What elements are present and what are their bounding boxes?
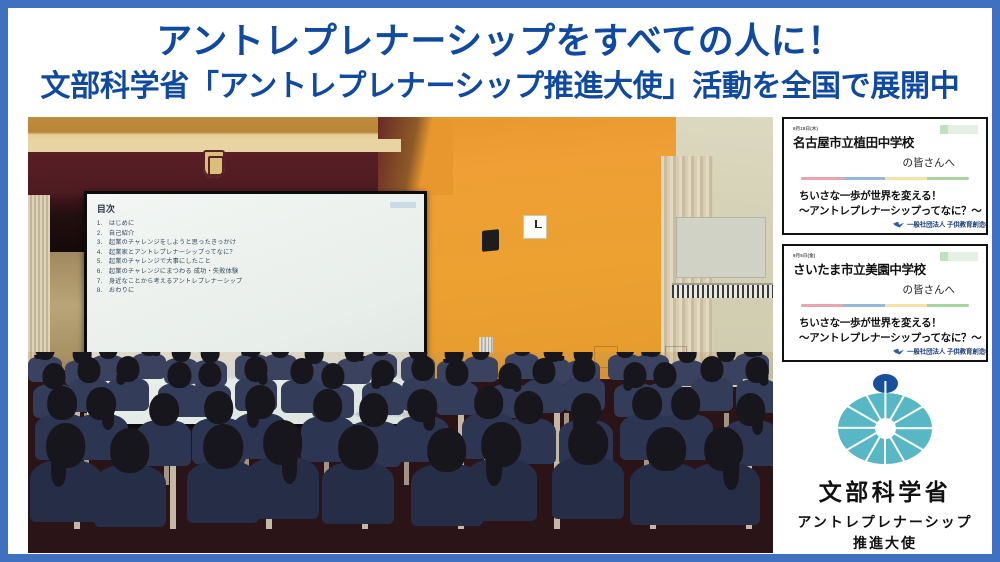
wall-speaker-icon <box>482 229 499 252</box>
student-head <box>371 352 390 356</box>
card-school-name: さいたま市立美園中学校 <box>793 259 977 278</box>
slide-item: 1. はじめに <box>97 219 414 229</box>
student-ponytail <box>755 352 762 355</box>
student-head <box>172 352 191 362</box>
student-ponytail <box>752 417 764 435</box>
student-head <box>427 428 467 472</box>
card-greeting: の皆さんへ <box>793 282 977 297</box>
student-head <box>513 352 532 356</box>
audience-area <box>28 352 773 553</box>
slide-title: 目次 <box>97 202 414 215</box>
card-color-rule <box>801 177 969 180</box>
student-head <box>700 356 723 382</box>
student-ponytail <box>116 375 125 385</box>
rule-segment-green <box>927 177 969 180</box>
page-title: アントレプレナーシップをすべての人に！ 文部科学省「アントレプレナーシップ推進大… <box>8 8 992 112</box>
slide-item: 6. 起業のチャレンジにまつわる 成功・失敗体験 <box>97 267 414 277</box>
school-card[interactable]: 9月5日(金) さいたま市立美園中学校 の皆さんへ ちいさな一歩が世界を変える！… <box>782 244 988 362</box>
logo-wheel-icon <box>838 393 932 464</box>
student-silhouette <box>552 457 624 519</box>
student-head <box>110 428 150 472</box>
student-ponytail <box>487 455 503 486</box>
student-head <box>321 363 344 389</box>
card-footer-text: 一般社団法人 子供教育創造機構 <box>907 220 988 229</box>
headline-line-1: アントレプレナーシップをすべての人に！ <box>8 8 992 66</box>
student-head <box>678 352 697 363</box>
slide-item: 3. 起業のチャレンジをしようと思ったきっかけ <box>97 238 414 248</box>
rule-segment-yellow <box>885 177 927 180</box>
student-silhouette <box>30 460 102 522</box>
student-head <box>313 389 343 422</box>
student-head <box>43 363 66 389</box>
student-head <box>291 358 314 384</box>
student-head <box>199 362 222 388</box>
card-date-kicker: 9月18日(木) <box>793 126 988 132</box>
student-head <box>471 352 490 359</box>
gym-wall-taper <box>378 117 453 195</box>
student-head <box>616 352 635 357</box>
rule-segment-green <box>927 304 969 307</box>
card-body-line-1: ちいさな一歩が世界を変える！ <box>793 189 977 204</box>
rule-segment-blue <box>843 177 885 180</box>
student-silhouette <box>465 459 537 521</box>
student-head <box>204 424 244 468</box>
logo-spoke-icon <box>884 381 886 428</box>
organization-mark-icon <box>893 222 904 228</box>
wall-vent-icon <box>479 337 493 353</box>
student-ponytail <box>372 379 381 389</box>
student-head <box>532 358 555 384</box>
student-silhouette <box>464 356 498 382</box>
student-head <box>572 356 595 382</box>
card-body-line-1: ちいさな一歩が世界を変える！ <box>793 316 977 331</box>
student-silhouette <box>688 463 760 525</box>
student-silhouette <box>94 465 166 527</box>
balcony-structure <box>676 217 765 278</box>
student-head <box>271 352 290 357</box>
rule-segment-blue <box>843 304 885 307</box>
student-ponytail <box>759 376 768 386</box>
card-date-kicker: 9月5日(金) <box>793 253 988 259</box>
student-ponytail <box>723 459 739 490</box>
slide-item: 2. 自己紹介 <box>97 229 414 239</box>
slide-item: 4. 起業家とアントレプレナーシップってなに？ <box>97 248 414 258</box>
student-head <box>99 352 118 359</box>
student-head <box>338 425 378 469</box>
student-ponytail <box>623 381 632 391</box>
balcony-railing <box>672 283 773 298</box>
student-head <box>568 421 608 465</box>
student-head <box>412 355 435 381</box>
wall-clock-icon <box>523 215 547 239</box>
card-body-line-2: 〜アントレプレナーシップってなに？〜 <box>793 204 977 219</box>
student-ponytail <box>152 352 159 355</box>
sidebar: 9月18日(木) 名古屋市立植田中学校 の皆さんへ ちいさな一歩が世界を変える！… <box>782 117 992 553</box>
student-ponytail <box>51 456 67 487</box>
photo-scene: 目次 1. はじめに 2. 自己紹介 3. 起業のチャレンジをしようと思ったきっ… <box>28 117 773 553</box>
card-greeting: の皆さんへ <box>793 155 977 170</box>
organization-mark-icon <box>893 349 904 355</box>
school-crest-icon <box>203 150 225 178</box>
student-ponytail <box>641 352 648 356</box>
card-footer-text: 一般社団法人 子供教育創造機構 <box>907 347 988 356</box>
card-footer: 一般社団法人 子供教育創造機構 <box>893 221 977 228</box>
stage-curtain-left <box>28 195 50 369</box>
mext-ambassador-logo: 文部科学省 アントレプレナーシップ 推進大使 <box>782 367 988 553</box>
banner-root: アントレプレナーシップをすべての人に！ 文部科学省「アントレプレナーシップ推進大… <box>0 0 1000 562</box>
student-head <box>632 387 662 420</box>
student-head <box>78 357 101 383</box>
card-color-rule <box>801 304 969 307</box>
ministry-name: 文部科学省 <box>819 473 952 507</box>
student-ponytail <box>258 375 267 385</box>
school-card[interactable]: 9月18日(木) 名古屋市立植田中学校 の皆さんへ ちいさな一歩が世界を変える！… <box>782 117 988 235</box>
student-head <box>646 427 686 471</box>
headline-line-2: 文部科学省「アントレプレナーシップ推進大使」活動を全国で展開中 <box>8 66 992 108</box>
student-silhouette <box>322 462 394 524</box>
student-head <box>149 393 179 426</box>
rule-segment-pink <box>801 177 843 180</box>
event-photo: 目次 1. はじめに 2. 自己紹介 3. 起業のチャレンジをしようと思ったきっ… <box>28 117 773 553</box>
student-head <box>514 391 544 424</box>
slide-item: 5. 起業のチャレンジで大事にしたこと <box>97 257 414 267</box>
student-head <box>47 386 77 419</box>
student-ponytail <box>282 453 298 484</box>
student-silhouette <box>247 457 319 519</box>
student-head <box>446 360 469 386</box>
student-head <box>359 393 389 426</box>
student-ponytail <box>512 382 521 392</box>
student-ponytail <box>423 413 435 431</box>
card-body-line-2: 〜アントレプレナーシップってなに？〜 <box>793 331 977 346</box>
student-silhouette <box>436 381 478 415</box>
student-ponytail <box>556 356 563 361</box>
slide-item: 8. おわりに <box>97 286 414 296</box>
logo-subtitle-2: 推進大使 <box>853 533 917 553</box>
student-head <box>671 387 701 420</box>
student-head <box>168 362 191 388</box>
student-head <box>474 386 504 419</box>
logo-spoke-icon <box>884 428 886 475</box>
card-footer: 一般社団法人 子供教育創造機構 <box>893 348 977 355</box>
student-head <box>653 362 676 388</box>
rule-segment-pink <box>801 304 843 307</box>
logo-spoke-icon <box>884 387 910 429</box>
student-ponytail <box>242 352 249 356</box>
student-ponytail <box>102 411 114 429</box>
logo-subtitle-1: アントレプレナーシップ <box>797 512 972 532</box>
slide-item: 7. 身近なことから考えるアントレプレナーシップ <box>97 277 414 287</box>
student-ponytail <box>247 410 259 428</box>
student-ponytail <box>34 355 41 360</box>
rule-segment-yellow <box>885 304 927 307</box>
card-school-name: 名古屋市立植田中学校 <box>793 132 977 151</box>
student-head <box>204 391 234 424</box>
